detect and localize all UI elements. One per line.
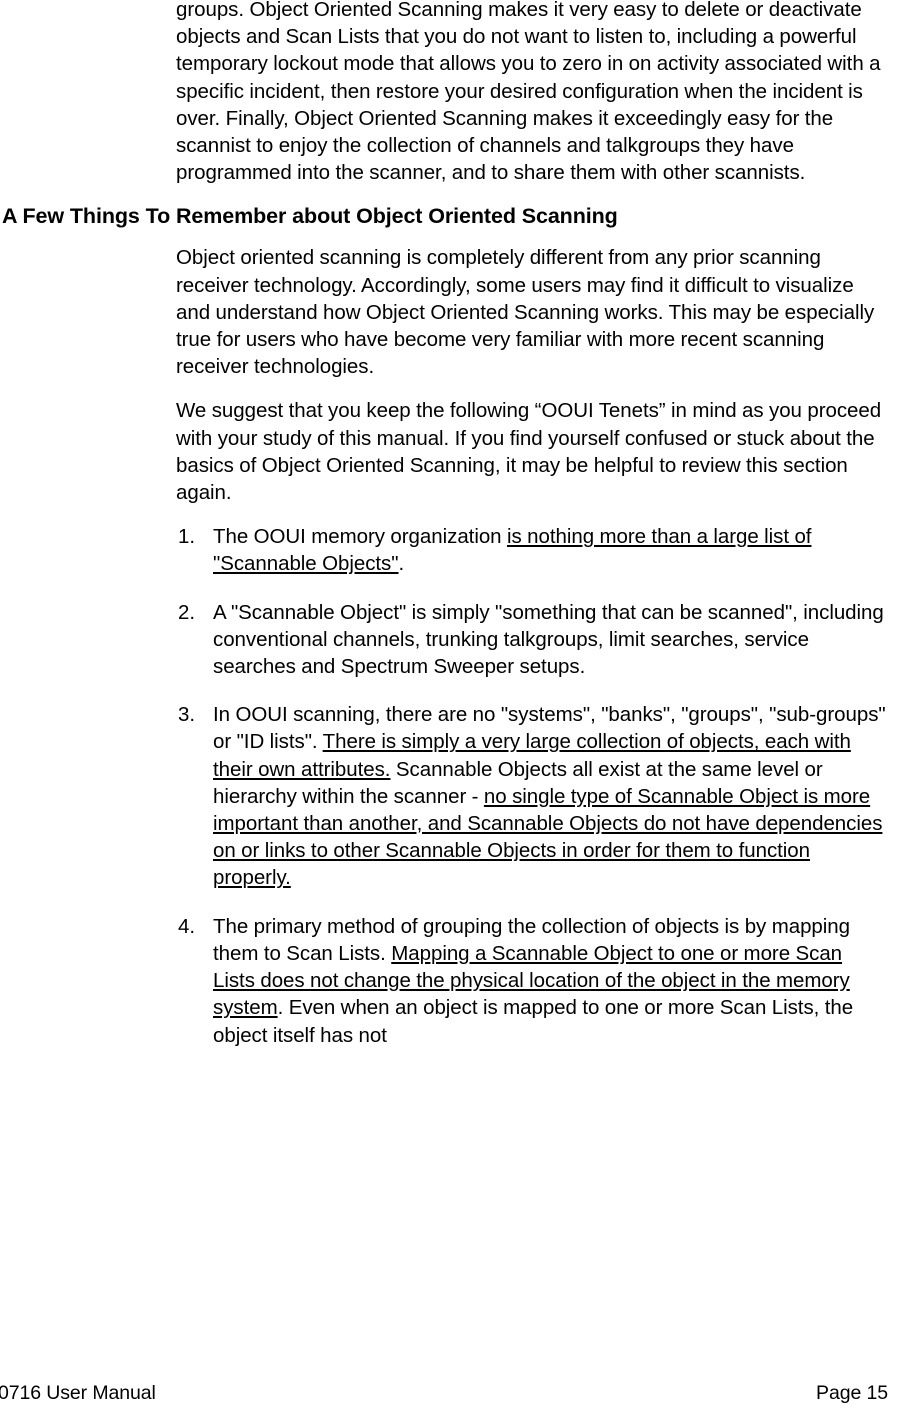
list-item-text: The primary method of grouping the colle… [213,915,853,1047]
footer-manual-title: 0716 User Manual [0,1381,156,1405]
continued-paragraph: groups. Object Oriented Scanning makes i… [0,0,898,186]
page-footer: 0716 User Manual Page 15 [0,1379,898,1405]
plain-run: The OOUI memory organization [213,525,507,548]
plain-run: . Even when an object is mapped to one o… [213,996,853,1046]
section-paragraph-1: Object oriented scanning is completely d… [0,244,898,380]
list-marker: 4. [178,913,208,940]
list-item: 1. The OOUI memory organization is nothi… [0,523,898,577]
list-marker: 1. [178,523,208,550]
section-heading: A Few Things To Remember about Object Or… [0,203,898,230]
list-item: 3. In OOUI scanning, there are no "syste… [0,701,898,891]
footer-page-number: Page 15 [816,1381,898,1405]
list-marker: 3. [178,701,208,728]
page-content: groups. Object Oriented Scanning makes i… [0,0,898,1049]
plain-run: . [398,552,404,575]
list-item: 4. The primary method of grouping the co… [0,913,898,1049]
list-item-text: The OOUI memory organization is nothing … [213,525,811,575]
list-item-text: A "Scannable Object" is simply "somethin… [213,601,884,678]
list-item-text: In OOUI scanning, there are no "systems"… [213,703,886,889]
section-paragraph-2: We suggest that you keep the following “… [0,397,898,506]
list-marker: 2. [178,599,208,626]
list-item: 2. A "Scannable Object" is simply "somet… [0,599,898,681]
tenets-list: 1. The OOUI memory organization is nothi… [0,523,898,1048]
plain-run: A "Scannable Object" is simply "somethin… [213,601,884,678]
document-page: groups. Object Oriented Scanning makes i… [0,0,898,1419]
